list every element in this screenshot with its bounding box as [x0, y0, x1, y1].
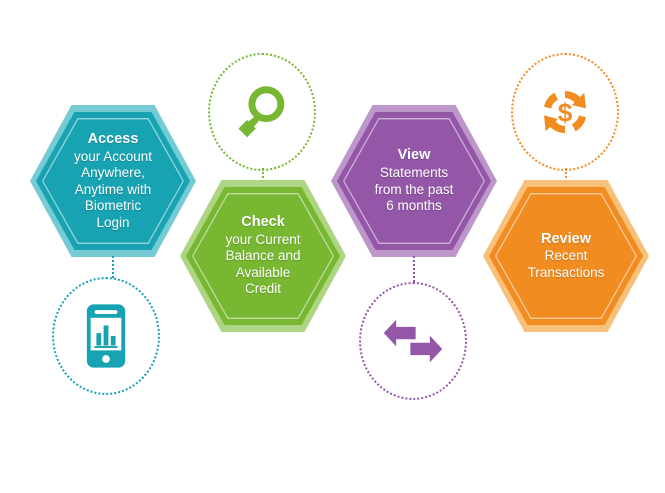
dollar-refresh-icon-circle: $: [511, 53, 619, 171]
step-title: Review: [541, 231, 591, 249]
step-card-check[interactable]: Check your Current Balance and Available…: [180, 180, 346, 332]
svg-text:$: $: [558, 98, 573, 128]
step-card-view[interactable]: View Statements from the past 6 months: [331, 105, 497, 257]
step-label-check: Check your Current Balance and Available…: [180, 180, 346, 332]
step-label-access: Access your Account Anywhere, Anytime wi…: [30, 105, 196, 257]
smartphone-chart-icon-circle: [52, 277, 160, 395]
step-card-review[interactable]: Review Recent Transactions: [483, 180, 649, 332]
connector-access: [112, 256, 114, 278]
step-body: Statements from the past 6 months: [375, 165, 454, 214]
step-body: your Account Anywhere, Anytime with Biom…: [74, 149, 152, 231]
transfer-arrows-icon-circle: [359, 282, 467, 400]
magnifier-icon: [234, 81, 290, 143]
step-label-view: View Statements from the past 6 months: [331, 105, 497, 257]
step-title: Access: [88, 131, 139, 149]
step-label-review: Review Recent Transactions: [483, 180, 649, 332]
step-card-access[interactable]: Access your Account Anywhere, Anytime wi…: [30, 105, 196, 257]
step-body: your Current Balance and Available Credi…: [225, 232, 300, 298]
step-body: Recent Transactions: [528, 248, 605, 281]
smartphone-chart-icon: [83, 302, 129, 370]
magnifier-icon-circle: [208, 53, 316, 171]
infographic-canvas: $ Access your Account Anywhere, Anytime …: [0, 0, 665, 493]
step-title: View: [398, 147, 431, 165]
connector-view: [413, 256, 415, 282]
transfer-arrows-icon: [382, 316, 444, 366]
step-title: Check: [241, 214, 285, 232]
dollar-refresh-icon: $: [537, 81, 593, 143]
